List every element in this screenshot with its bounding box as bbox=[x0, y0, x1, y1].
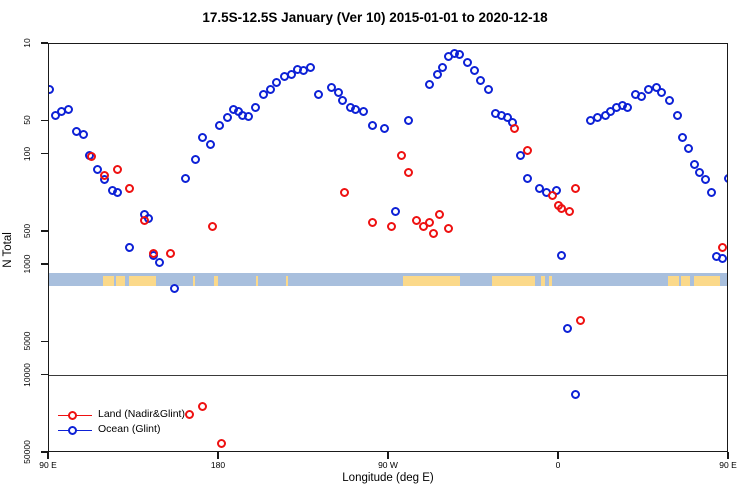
x-tick-label: 90 E bbox=[698, 460, 750, 470]
y-tick-mark bbox=[41, 42, 48, 43]
y-tick-label: 1000 bbox=[22, 255, 32, 274]
y-tick-label: 50 bbox=[22, 116, 32, 125]
x-tick-label: 90 E bbox=[18, 460, 78, 470]
legend-marker-ocean bbox=[58, 426, 92, 436]
y-tick-label: 10000 bbox=[22, 363, 32, 387]
y-axis-label: N Total bbox=[2, 232, 14, 268]
y-tick-label: 100 bbox=[22, 146, 32, 160]
chart-root: 17.5S-12.5S January (Ver 10) 2015-01-01 … bbox=[0, 0, 750, 500]
chart-title: 17.5S-12.5S January (Ver 10) 2015-01-01 … bbox=[0, 10, 750, 25]
y-tick-label: 10 bbox=[22, 38, 32, 47]
x-tick-label: 90 W bbox=[358, 460, 418, 470]
x-tick-mark bbox=[387, 452, 388, 459]
x-tick-mark bbox=[217, 452, 218, 459]
y-tick-mark bbox=[41, 120, 48, 121]
y-tick-label: 5000 bbox=[22, 332, 32, 351]
legend-marker-land bbox=[58, 411, 92, 421]
y-tick-mark bbox=[41, 341, 48, 342]
x-tick-mark bbox=[47, 452, 48, 459]
x-tick-mark bbox=[557, 452, 558, 459]
x-tick-label: 180 bbox=[188, 460, 248, 470]
x-axis-label: Longitude (deg E) bbox=[48, 472, 728, 484]
y-tick-mark bbox=[41, 153, 48, 154]
y-tick-label: 500 bbox=[22, 224, 32, 238]
y-tick-mark bbox=[41, 230, 48, 231]
legend-label-land: Land (Nadir&Glint) bbox=[98, 408, 185, 420]
x-tick-label: 0 bbox=[528, 460, 588, 470]
plot-frame bbox=[48, 43, 728, 452]
x-tick-mark bbox=[727, 452, 728, 459]
y-tick-mark bbox=[41, 263, 48, 264]
legend-label-ocean: Ocean (Glint) bbox=[98, 423, 160, 435]
y-tick-mark bbox=[41, 374, 48, 375]
